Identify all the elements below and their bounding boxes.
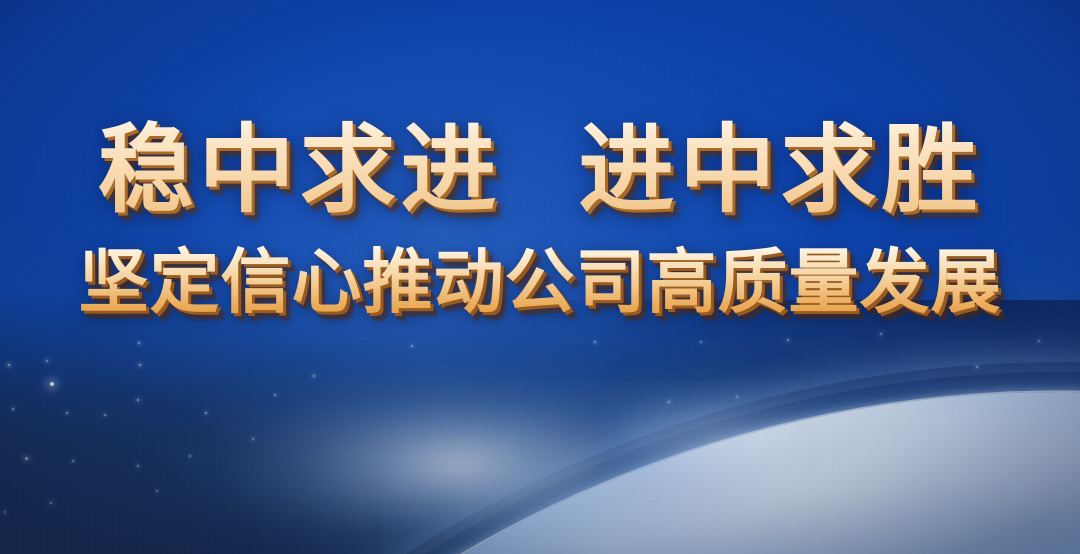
- headline-title: 稳中求进 进中求胜: [0, 118, 1080, 222]
- headline-subtitle: 坚定信心推动公司高质量发展: [0, 244, 1080, 320]
- headline-block: 稳中求进 进中求胜 坚定信心推动公司高质量发展: [0, 118, 1080, 320]
- promo-banner: 稳中求进 进中求胜 坚定信心推动公司高质量发展: [0, 0, 1080, 554]
